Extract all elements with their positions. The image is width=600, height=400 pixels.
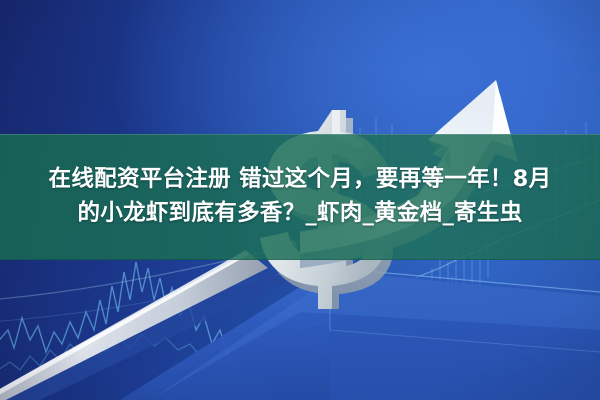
headline-block: 在线配资平台注册 错过这个月，要再等一年！8月 的小龙虾到底有多香？_虾肉_黄金…: [0, 134, 600, 260]
headline-line-1: 在线配资平台注册 错过这个月，要再等一年！8月: [49, 164, 552, 196]
headline-line-2: 的小龙虾到底有多香？_虾肉_黄金档_寄生虫: [77, 198, 522, 230]
banner-image: 在线配资平台注册 错过这个月，要再等一年！8月 的小龙虾到底有多香？_虾肉_黄金…: [0, 0, 600, 400]
